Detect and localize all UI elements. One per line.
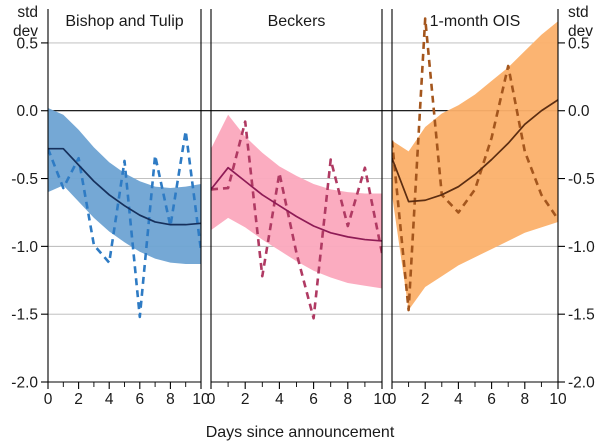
three-panel-line-chart: 0246810Bishop and Tulip0246810Beckers024…: [0, 0, 600, 448]
x-tick-label: 2: [74, 391, 83, 408]
panel-title-3: 1-month OIS: [430, 13, 521, 30]
y-tick-label-right: -0.5: [568, 171, 595, 188]
x-tick-label: 0: [388, 391, 397, 408]
x-tick-label: 4: [275, 391, 284, 408]
y-tick-label-right: -2.0: [568, 375, 595, 392]
y-tick-label-right: 0.0: [568, 103, 590, 120]
chart-container: 0246810Bishop and Tulip0246810Beckers024…: [0, 0, 600, 448]
x-tick-label: 2: [241, 391, 250, 408]
x-tick-label: 0: [44, 391, 53, 408]
x-tick-label: 4: [105, 391, 114, 408]
y-axis-unit-left-line2: dev: [13, 23, 38, 40]
y-axis-unit-right-line1: std: [568, 4, 589, 21]
x-tick-label: 6: [487, 391, 496, 408]
y-tick-label-left: -2.0: [11, 375, 38, 392]
y-tick-label-left: -1.5: [11, 307, 38, 324]
y-tick-label-left: -1.0: [11, 239, 38, 256]
series-lines-group: [48, 18, 558, 318]
x-tick-label: 0: [207, 391, 216, 408]
x-tick-label: 6: [309, 391, 318, 408]
panel-title-1: Bishop and Tulip: [65, 13, 183, 30]
y-tick-label-left: 0.0: [16, 103, 38, 120]
panel-title-2: Beckers: [268, 13, 326, 30]
y-tick-label-left: -0.5: [11, 171, 38, 188]
y-axis-unit-left-line1: std: [17, 4, 38, 21]
y-axis-unit-right-line2: dev: [568, 23, 593, 40]
x-tick-label: 8: [520, 391, 529, 408]
x-axis-title: Days since announcement: [206, 424, 395, 441]
y-tick-label-right: -1.0: [568, 239, 595, 256]
x-tick-label: 10: [549, 391, 567, 408]
y-tick-label-right: -1.5: [568, 307, 595, 324]
x-tick-label: 4: [454, 391, 463, 408]
x-tick-label: 8: [343, 391, 352, 408]
x-tick-label: 6: [135, 391, 144, 408]
confidence-band: [211, 115, 382, 289]
x-tick-label: 2: [421, 391, 430, 408]
x-tick-label: 8: [166, 391, 175, 408]
